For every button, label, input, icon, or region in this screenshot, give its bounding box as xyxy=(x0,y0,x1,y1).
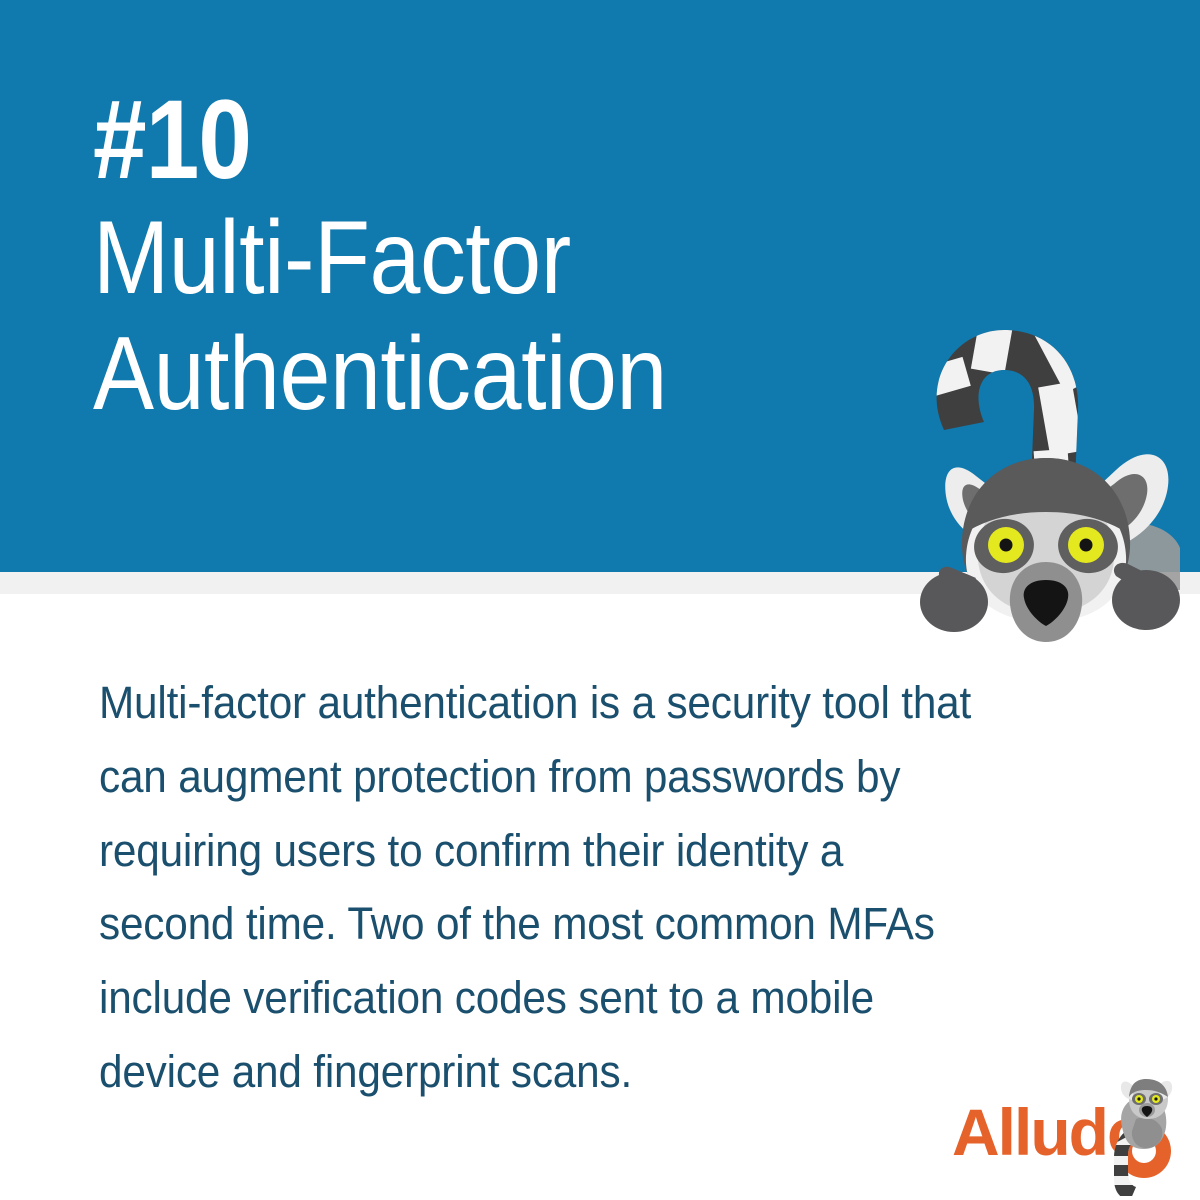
lemur-head xyxy=(962,458,1130,642)
body-line-5: include verification codes sent to a mob… xyxy=(99,961,1048,1035)
body-line-6: device and fingerprint scans. xyxy=(99,1035,1048,1109)
page-title: Multi-Factor Authentication xyxy=(93,200,815,433)
body-line-1: Multi-factor authentication is a securit… xyxy=(99,666,1048,740)
alludo-logo-lemur-icon xyxy=(1102,1075,1184,1193)
body-line-3: requiring users to confirm their identit… xyxy=(99,814,1048,888)
rank-number: #10 xyxy=(93,84,798,196)
body-line-2: can augment protection from passwords by xyxy=(99,740,1048,814)
hero-text-block: #10 Multi-Factor Authentication xyxy=(93,84,913,433)
social-card: #10 Multi-Factor Authentication xyxy=(0,0,1200,1200)
title-line-1: Multi-Factor xyxy=(93,200,815,316)
body-paragraph: Multi-factor authentication is a securit… xyxy=(99,666,1048,1109)
title-line-2: Authentication xyxy=(93,316,815,432)
lemur-mascot xyxy=(880,290,1200,620)
alludo-logo[interactable]: Alludo xyxy=(952,1075,1184,1193)
body-line-4: second time. Two of the most common MFAs xyxy=(99,887,1048,961)
